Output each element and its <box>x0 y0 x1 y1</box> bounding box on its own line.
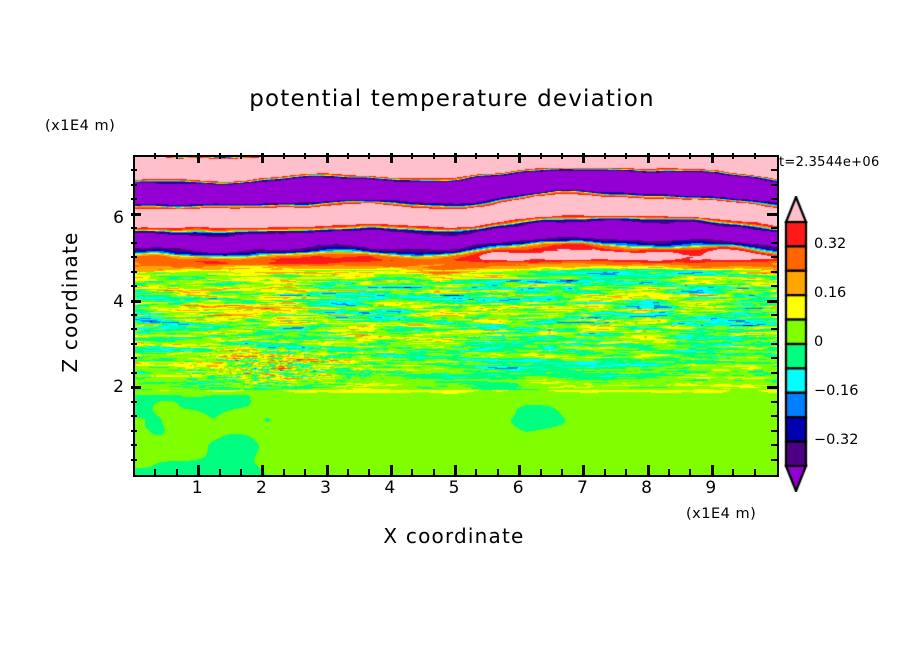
axis-tick <box>131 169 137 171</box>
axis-tick <box>197 153 200 163</box>
axis-tick <box>131 372 137 374</box>
figure-canvas: potential temperature deviation (x1E4 m)… <box>0 0 904 654</box>
axis-tick <box>518 465 521 475</box>
axis-tick <box>732 469 734 475</box>
x-tick-label: 8 <box>632 478 662 498</box>
axis-tick <box>561 469 563 475</box>
axis-tick <box>433 469 435 475</box>
axis-tick <box>732 153 734 159</box>
axis-tick <box>197 465 200 475</box>
axis-tick <box>219 469 221 475</box>
axis-tick <box>411 153 413 159</box>
x-tick-label: 7 <box>567 478 597 498</box>
axis-tick <box>475 469 477 475</box>
axis-tick <box>131 300 141 303</box>
axis-tick <box>131 430 137 432</box>
axis-tick <box>771 271 777 273</box>
axis-tick <box>131 285 137 287</box>
axis-tick <box>604 469 606 475</box>
axis-tick <box>326 465 329 475</box>
axis-tick <box>767 300 777 303</box>
x-tick-label: 9 <box>696 478 726 498</box>
colorbar-tick-label: 0.32 <box>814 236 846 252</box>
x-axis-unit-label: (x1E4 m) <box>686 506 756 522</box>
axis-tick <box>771 285 777 287</box>
axis-tick <box>518 153 521 163</box>
axis-tick <box>347 469 349 475</box>
colorbar-tick-label: −0.16 <box>814 383 858 399</box>
axis-tick <box>131 184 137 186</box>
axis-tick <box>131 271 137 273</box>
axis-tick <box>368 469 370 475</box>
time-annotation: t=2.3544e+06 <box>779 155 880 170</box>
axis-tick <box>540 153 542 159</box>
axis-tick <box>582 153 585 163</box>
axis-tick <box>131 242 137 244</box>
axis-tick <box>771 415 777 417</box>
axis-tick <box>771 256 777 258</box>
axis-tick <box>131 415 137 417</box>
axis-tick <box>454 465 457 475</box>
axis-tick <box>771 459 777 461</box>
axis-tick <box>771 430 777 432</box>
axis-tick <box>771 328 777 330</box>
axis-tick <box>368 153 370 159</box>
y-tick-label: 6 <box>98 208 124 228</box>
axis-tick <box>131 343 137 345</box>
axis-tick <box>283 469 285 475</box>
axis-tick <box>131 328 137 330</box>
axis-tick <box>625 469 627 475</box>
axis-tick <box>689 469 691 475</box>
axis-tick <box>433 153 435 159</box>
axis-tick <box>771 227 777 229</box>
axis-tick <box>647 465 650 475</box>
x-tick-label: 3 <box>311 478 341 498</box>
axis-tick <box>304 469 306 475</box>
axis-tick <box>390 153 393 163</box>
axis-tick <box>283 153 285 159</box>
axis-tick <box>540 469 542 475</box>
axis-tick <box>767 386 777 389</box>
axis-tick <box>771 314 777 316</box>
axis-tick <box>240 469 242 475</box>
axis-tick <box>497 153 499 159</box>
axis-tick <box>711 153 714 163</box>
axis-tick <box>604 153 606 159</box>
axis-tick <box>131 459 137 461</box>
axis-tick <box>497 469 499 475</box>
axis-tick <box>131 401 137 403</box>
plot-area <box>133 155 779 477</box>
axis-tick <box>771 401 777 403</box>
axis-tick <box>219 153 221 159</box>
colorbar-tick-label: −0.32 <box>814 432 858 448</box>
colorbar-tick-label: 0 <box>814 334 823 350</box>
y-axis-unit-label: (x1E4 m) <box>45 118 115 134</box>
axis-tick <box>176 153 178 159</box>
axis-tick <box>771 198 777 200</box>
axis-tick <box>176 469 178 475</box>
axis-tick <box>771 242 777 244</box>
axis-tick <box>326 153 329 163</box>
axis-tick <box>131 213 141 216</box>
axis-tick <box>240 153 242 159</box>
axis-tick <box>625 153 627 159</box>
x-tick-label: 1 <box>182 478 212 498</box>
axis-tick <box>668 153 670 159</box>
y-tick-label: 4 <box>98 292 124 312</box>
axis-tick <box>131 314 137 316</box>
axis-tick <box>561 153 563 159</box>
x-tick-label: 6 <box>503 478 533 498</box>
axis-tick <box>771 169 777 171</box>
page-title: potential temperature deviation <box>0 86 904 112</box>
axis-tick <box>771 184 777 186</box>
axis-tick <box>390 465 393 475</box>
colorbar-tick-label: 0.16 <box>814 285 846 301</box>
axis-tick <box>304 153 306 159</box>
axis-tick <box>771 343 777 345</box>
axis-tick <box>131 386 141 389</box>
y-tick-label: 2 <box>98 377 124 397</box>
axis-tick <box>475 153 477 159</box>
axis-tick <box>668 469 670 475</box>
x-tick-label: 4 <box>375 478 405 498</box>
x-axis-label: X coordinate <box>133 524 775 548</box>
axis-tick <box>261 153 264 163</box>
contour-field <box>135 157 777 475</box>
axis-tick <box>131 357 137 359</box>
axis-tick <box>261 465 264 475</box>
axis-tick <box>689 153 691 159</box>
axis-tick <box>771 444 777 446</box>
x-tick-label: 2 <box>246 478 276 498</box>
y-axis-label: Z coordinate <box>58 202 82 402</box>
axis-tick <box>767 213 777 216</box>
axis-tick <box>582 465 585 475</box>
axis-tick <box>131 198 137 200</box>
colorbar-gradient <box>784 196 808 492</box>
axis-tick <box>771 372 777 374</box>
axis-tick <box>131 444 137 446</box>
axis-tick <box>131 227 137 229</box>
axis-tick <box>131 256 137 258</box>
axis-tick <box>711 465 714 475</box>
axis-tick <box>647 153 650 163</box>
axis-tick <box>411 469 413 475</box>
axis-tick <box>754 469 756 475</box>
axis-tick <box>347 153 349 159</box>
axis-tick <box>754 153 756 159</box>
colorbar <box>784 196 808 492</box>
axis-tick <box>454 153 457 163</box>
axis-tick <box>154 153 156 159</box>
x-tick-label: 5 <box>439 478 469 498</box>
axis-tick <box>771 357 777 359</box>
axis-tick <box>154 469 156 475</box>
